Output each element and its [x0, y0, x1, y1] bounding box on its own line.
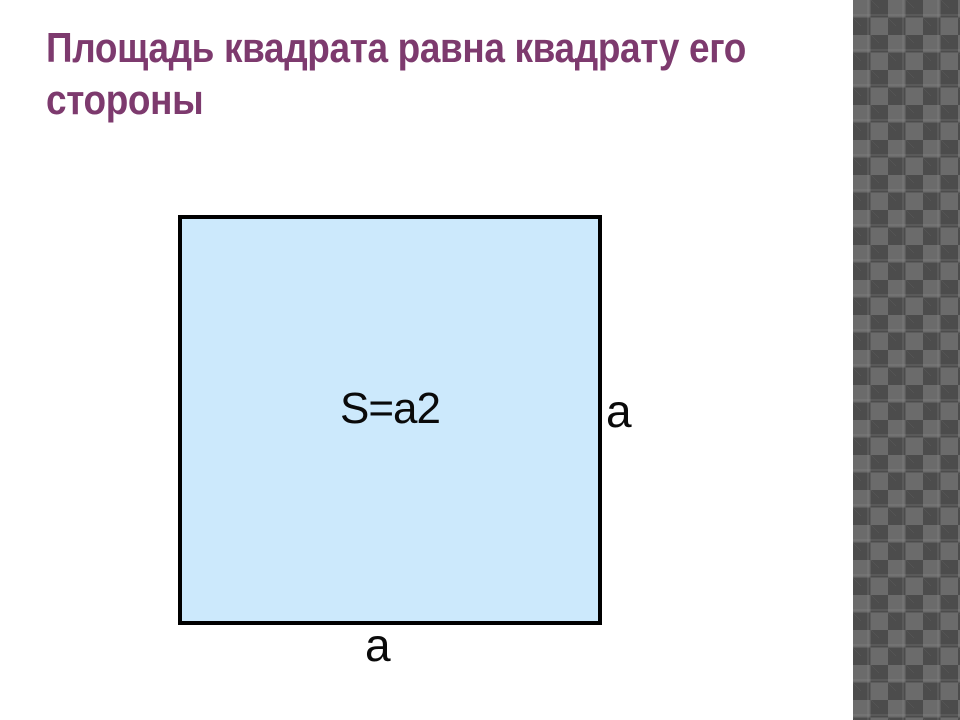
area-formula-label: S=a2 — [182, 387, 598, 431]
slide-canvas: Площадь квадрата равна квадрату его стор… — [0, 0, 960, 720]
side-label-bottom: a — [365, 622, 391, 668]
slide-title: Площадь квадрата равна квадрату его стор… — [46, 22, 803, 126]
argyle-cross-accent-layer — [853, 0, 960, 720]
side-label-right: a — [606, 388, 632, 434]
square-figure: S=a2 — [178, 215, 602, 625]
decorative-pattern-strip — [853, 0, 960, 720]
